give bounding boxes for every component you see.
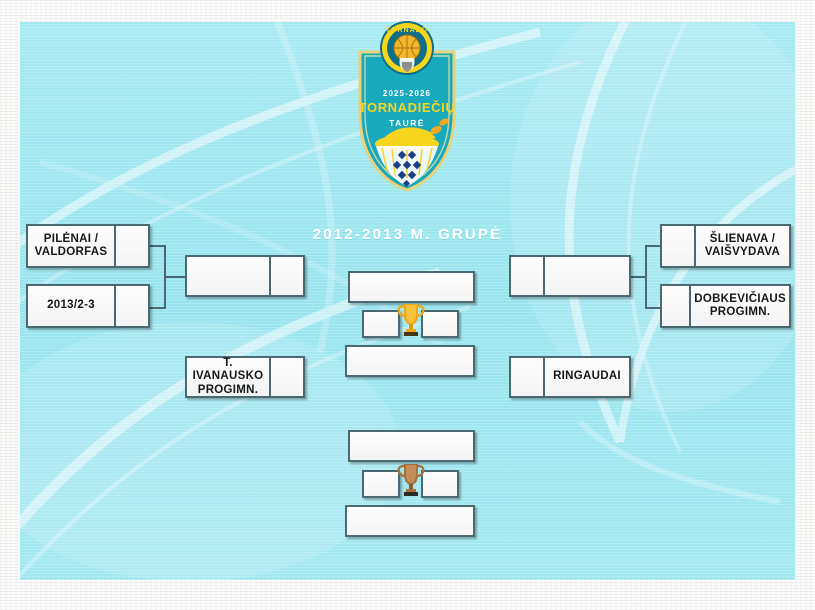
logo-season: 2025-2026 (383, 89, 431, 98)
tournament-logo: TORNADO 2025-2026 TORNADIEČIŲ TAURĖ (352, 18, 462, 193)
logo-name: TORNADIEČIŲ (359, 100, 456, 115)
team-name (545, 257, 629, 295)
team-name (187, 257, 269, 295)
final-right-score-slot[interactable] (421, 310, 459, 338)
team-name: PILĖNAI / VALDORFAS (28, 226, 114, 266)
connector-right-r1-top (645, 245, 661, 247)
team-score (511, 358, 545, 396)
third-place-left-score-slot[interactable] (362, 470, 400, 498)
match-box-left-bye[interactable]: T. IVANAUSKO PROGIMN. (185, 356, 305, 398)
team-name: DOBKEVIČIAUS PROGIMN. (691, 286, 789, 326)
logo-subtitle: TAURĖ (389, 118, 425, 128)
gold-trophy-icon (396, 300, 426, 340)
team-score (269, 358, 303, 396)
match-box-right-r1-1[interactable]: ŠLIENAVA / VAIŠVYDAVA (660, 224, 791, 268)
match-box-right-r1-2[interactable]: DOBKEVIČIAUS PROGIMN. (660, 284, 791, 328)
match-box-left-r1-2[interactable]: 2013/2-3 (26, 284, 150, 328)
match-box-left-semifinal[interactable] (185, 255, 305, 297)
final-left-score (364, 312, 398, 336)
team-score (114, 226, 148, 266)
final-bottom-team (347, 347, 473, 375)
match-box-right-semifinal[interactable] (509, 255, 631, 297)
connector-right-r1-bottom (645, 307, 661, 309)
third-place-top-slot[interactable] (348, 430, 475, 462)
logo-inner-text: TORNADO (386, 27, 428, 34)
team-score (269, 257, 303, 295)
connector-left-r1-top (150, 245, 166, 247)
final-bottom-slot[interactable] (345, 345, 475, 377)
third-place-bottom-slot[interactable] (345, 505, 475, 537)
team-score (662, 286, 691, 326)
team-name: RINGAUDAI (545, 358, 629, 396)
match-box-left-r1-1[interactable]: PILĖNAI / VALDORFAS (26, 224, 150, 268)
third-place-right-score-slot[interactable] (421, 470, 459, 498)
team-score (114, 286, 148, 326)
final-left-score-slot[interactable] (362, 310, 400, 338)
final-top-team (350, 273, 473, 301)
third-place-left-score (364, 472, 398, 496)
third-place-bottom-team (347, 507, 473, 535)
final-top-slot[interactable] (348, 271, 475, 303)
final-right-score (423, 312, 457, 336)
connector-left-sf (164, 276, 186, 278)
bronze-trophy-icon (396, 460, 426, 500)
team-name: 2013/2-3 (28, 286, 114, 326)
connector-left-r1-bottom (150, 307, 166, 309)
third-place-right-score (423, 472, 457, 496)
third-place-top-team (350, 432, 473, 460)
team-name: T. IVANAUSKO PROGIMN. (187, 358, 269, 396)
match-box-right-bye[interactable]: RINGAUDAI (509, 356, 631, 398)
team-name: ŠLIENAVA / VAIŠVYDAVA (696, 226, 789, 266)
team-score (662, 226, 696, 266)
team-score (511, 257, 545, 295)
